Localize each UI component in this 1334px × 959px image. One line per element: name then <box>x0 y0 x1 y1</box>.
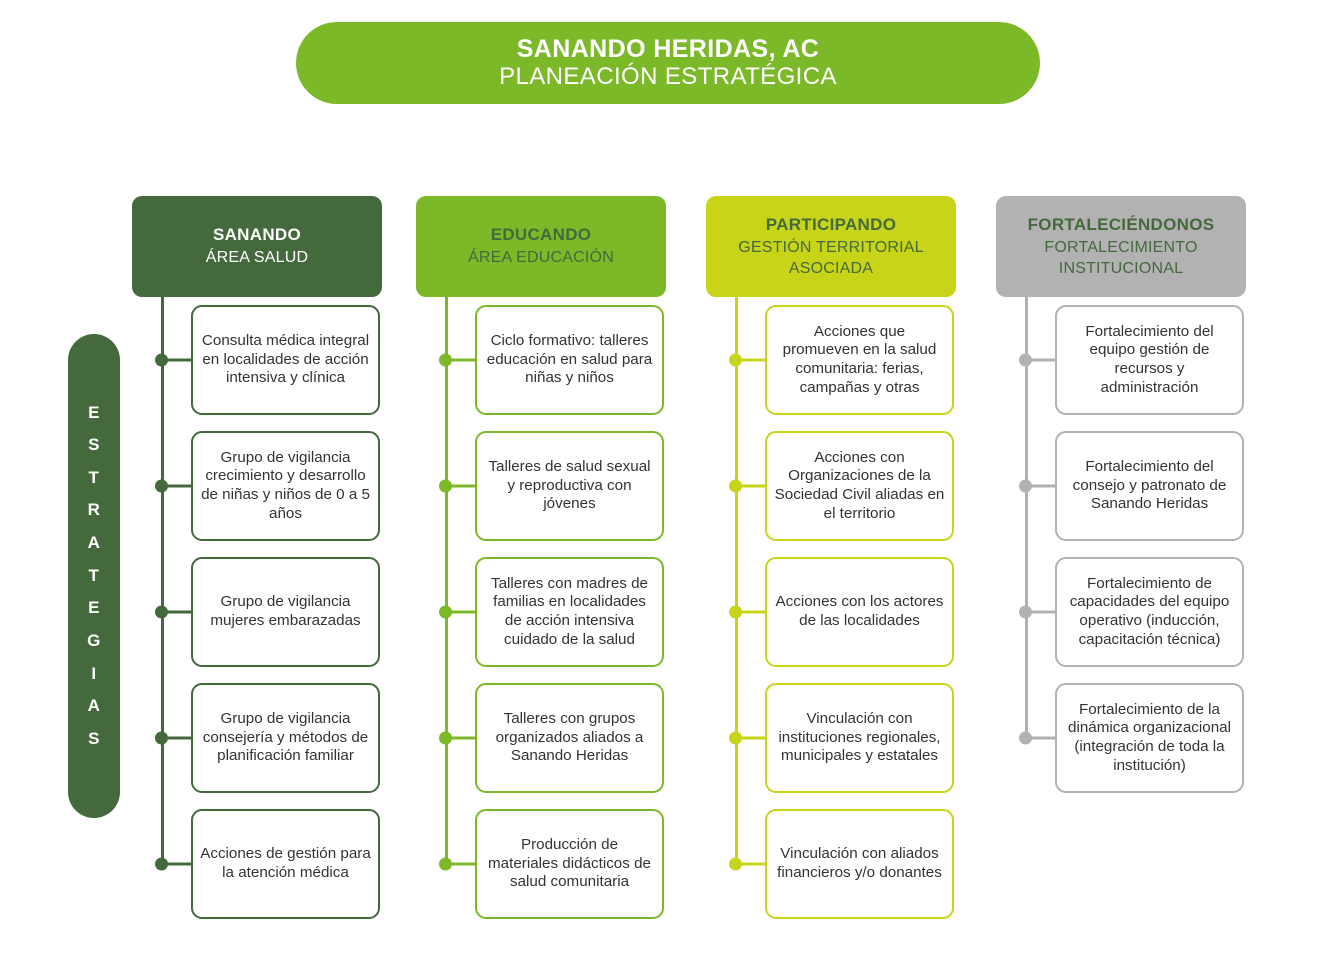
card-connector-dot <box>439 858 452 871</box>
strategy-card[interactable]: Acciones con los actores de las localida… <box>765 557 954 667</box>
card-row: Talleres con grupos organizados aliados … <box>416 675 666 801</box>
column-header-title: PARTICIPANDO <box>766 214 896 236</box>
strategy-card-text: Acciones de gestión para la atención méd… <box>200 845 371 882</box>
strategy-card[interactable]: Grupo de vigilancia crecimiento y desarr… <box>191 431 380 541</box>
column-header-subtitle: ÁREA EDUCACIÓN <box>468 248 614 268</box>
strategy-column-educando: EDUCANDOÁREA EDUCACIÓNCiclo formativo: t… <box>416 196 666 927</box>
card-connector-dot <box>155 606 168 619</box>
column-body-participando: Acciones que promueven en la salud comun… <box>706 297 956 927</box>
card-connector-dot <box>439 480 452 493</box>
strategy-card[interactable]: Consulta médica integral en localidades … <box>191 305 380 415</box>
card-connector-dot <box>155 858 168 871</box>
strategy-column-participando: PARTICIPANDOGESTIÓN TERRITORIAL ASOCIADA… <box>706 196 956 927</box>
column-body-educando: Ciclo formativo: talleres educación en s… <box>416 297 666 927</box>
card-connector-dot <box>729 606 742 619</box>
card-row: Acciones que promueven en la salud comun… <box>706 297 956 423</box>
strategy-card-text: Vinculación con instituciones regionales… <box>774 710 945 766</box>
strategy-card-text: Ciclo formativo: talleres educación en s… <box>484 332 655 388</box>
strategy-card-text: Grupo de vigilancia crecimiento y desarr… <box>200 449 371 524</box>
column-header-subtitle: ÁREA SALUD <box>206 248 308 268</box>
column-header-subtitle: GESTIÓN TERRITORIAL ASOCIADA <box>714 238 948 279</box>
strategy-card-text: Fortalecimiento de capacidades del equip… <box>1064 575 1235 650</box>
page-title: SANANDO HERIDAS, AC <box>517 35 820 63</box>
strategy-card-text: Acciones que promueven en la salud comun… <box>774 323 945 398</box>
card-row: Talleres de salud sexual y reproductiva … <box>416 423 666 549</box>
strategy-card[interactable]: Talleres con grupos organizados aliados … <box>475 683 664 793</box>
card-row: Acciones con los actores de las localida… <box>706 549 956 675</box>
card-row: Talleres con madres de familias en local… <box>416 549 666 675</box>
card-row: Vinculación con instituciones regionales… <box>706 675 956 801</box>
card-row: Vinculación con aliados financieros y/o … <box>706 801 956 927</box>
card-row: Grupo de vigilancia consejería y métodos… <box>132 675 382 801</box>
strategy-card-text: Grupo de vigilancia mujeres embarazadas <box>200 593 371 630</box>
column-header-educando[interactable]: EDUCANDOÁREA EDUCACIÓN <box>416 196 666 297</box>
estrategias-letter: A <box>88 690 101 723</box>
column-header-participando[interactable]: PARTICIPANDOGESTIÓN TERRITORIAL ASOCIADA <box>706 196 956 297</box>
strategy-card-text: Talleres de salud sexual y reproductiva … <box>484 458 655 514</box>
card-row: Fortalecimiento del consejo y patronato … <box>996 423 1246 549</box>
card-connector-dot <box>1019 732 1032 745</box>
column-header-sanando[interactable]: SANANDOÁREA SALUD <box>132 196 382 297</box>
card-row: Consulta médica integral en localidades … <box>132 297 382 423</box>
card-row: Acciones con Organizaciones de la Socied… <box>706 423 956 549</box>
strategy-card[interactable]: Producción de materiales didácticos de s… <box>475 809 664 919</box>
strategy-card-text: Consulta médica integral en localidades … <box>200 332 371 388</box>
column-header-title: FORTALECIÉNDONOS <box>1028 214 1215 236</box>
strategy-card-text: Producción de materiales didácticos de s… <box>484 836 655 892</box>
card-connector-dot <box>155 732 168 745</box>
estrategias-letter: R <box>88 494 101 527</box>
strategy-card[interactable]: Fortalecimiento del consejo y patronato … <box>1055 431 1244 541</box>
page-title-banner: SANANDO HERIDAS, AC PLANEACIÓN ESTRATÉGI… <box>296 22 1040 104</box>
strategy-card-text: Vinculación con aliados financieros y/o … <box>774 845 945 882</box>
strategy-card-text: Acciones con los actores de las localida… <box>774 593 945 630</box>
strategy-card-text: Talleres con grupos organizados aliados … <box>484 710 655 766</box>
estrategias-letters: ESTRATEGIAS <box>87 397 101 756</box>
card-row: Ciclo formativo: talleres educación en s… <box>416 297 666 423</box>
estrategias-letter: S <box>88 723 100 756</box>
card-row: Fortalecimiento del equipo gestión de re… <box>996 297 1246 423</box>
card-row: Grupo de vigilancia crecimiento y desarr… <box>132 423 382 549</box>
strategy-card[interactable]: Acciones con Organizaciones de la Socied… <box>765 431 954 541</box>
card-connector-dot <box>439 732 452 745</box>
strategy-card[interactable]: Acciones de gestión para la atención méd… <box>191 809 380 919</box>
card-row: Fortalecimiento de la dinámica organizac… <box>996 675 1246 801</box>
strategy-card[interactable]: Fortalecimiento de capacidades del equip… <box>1055 557 1244 667</box>
estrategias-letter: T <box>89 560 100 593</box>
card-connector-dot <box>729 858 742 871</box>
estrategias-letter: A <box>88 527 101 560</box>
strategy-column-sanando: SANANDOÁREA SALUDConsulta médica integra… <box>132 196 382 927</box>
page-subtitle: PLANEACIÓN ESTRATÉGICA <box>499 63 837 91</box>
estrategias-letter: I <box>91 658 96 691</box>
strategy-card[interactable]: Ciclo formativo: talleres educación en s… <box>475 305 664 415</box>
card-connector-dot <box>729 354 742 367</box>
strategy-card[interactable]: Talleres con madres de familias en local… <box>475 557 664 667</box>
strategy-card-text: Grupo de vigilancia consejería y métodos… <box>200 710 371 766</box>
estrategias-side-label: ESTRATEGIAS <box>68 334 120 818</box>
card-row: Producción de materiales didácticos de s… <box>416 801 666 927</box>
card-connector-dot <box>439 354 452 367</box>
card-connector-dot <box>729 480 742 493</box>
strategy-card[interactable]: Fortalecimiento de la dinámica organizac… <box>1055 683 1244 793</box>
card-connector-dot <box>155 480 168 493</box>
estrategias-letter: E <box>88 592 100 625</box>
strategy-card-text: Fortalecimiento del equipo gestión de re… <box>1064 323 1235 398</box>
column-header-title: SANANDO <box>213 224 301 246</box>
card-row: Acciones de gestión para la atención méd… <box>132 801 382 927</box>
strategy-column-fortaleciendonos: FORTALECIÉNDONOSFORTALECIMIENTO INSTITUC… <box>996 196 1246 801</box>
column-body-sanando: Consulta médica integral en localidades … <box>132 297 382 927</box>
strategy-card[interactable]: Vinculación con aliados financieros y/o … <box>765 809 954 919</box>
strategy-card[interactable]: Grupo de vigilancia consejería y métodos… <box>191 683 380 793</box>
card-connector-dot <box>1019 606 1032 619</box>
strategy-card[interactable]: Acciones que promueven en la salud comun… <box>765 305 954 415</box>
estrategias-letter: G <box>87 625 101 658</box>
card-row: Grupo de vigilancia mujeres embarazadas <box>132 549 382 675</box>
column-header-title: EDUCANDO <box>491 224 592 246</box>
card-connector-dot <box>439 606 452 619</box>
card-connector-dot <box>155 354 168 367</box>
card-row: Fortalecimiento de capacidades del equip… <box>996 549 1246 675</box>
column-header-subtitle: FORTALECIMIENTO INSTITUCIONAL <box>1004 238 1238 279</box>
strategy-card[interactable]: Fortalecimiento del equipo gestión de re… <box>1055 305 1244 415</box>
strategy-card[interactable]: Grupo de vigilancia mujeres embarazadas <box>191 557 380 667</box>
strategy-card-text: Talleres con madres de familias en local… <box>484 575 655 650</box>
estrategias-letter: T <box>89 462 100 495</box>
strategy-card-text: Acciones con Organizaciones de la Socied… <box>774 449 945 524</box>
strategy-card[interactable]: Talleres de salud sexual y reproductiva … <box>475 431 664 541</box>
card-connector-dot <box>1019 480 1032 493</box>
estrategias-letter: S <box>88 429 100 462</box>
estrategias-letter: E <box>88 397 100 430</box>
column-body-fortaleciendonos: Fortalecimiento del equipo gestión de re… <box>996 297 1246 801</box>
strategy-card-text: Fortalecimiento de la dinámica organizac… <box>1064 701 1235 776</box>
strategy-card[interactable]: Vinculación con instituciones regionales… <box>765 683 954 793</box>
card-connector-dot <box>729 732 742 745</box>
column-header-fortaleciendonos[interactable]: FORTALECIÉNDONOSFORTALECIMIENTO INSTITUC… <box>996 196 1246 297</box>
strategy-card-text: Fortalecimiento del consejo y patronato … <box>1064 458 1235 514</box>
card-connector-dot <box>1019 354 1032 367</box>
